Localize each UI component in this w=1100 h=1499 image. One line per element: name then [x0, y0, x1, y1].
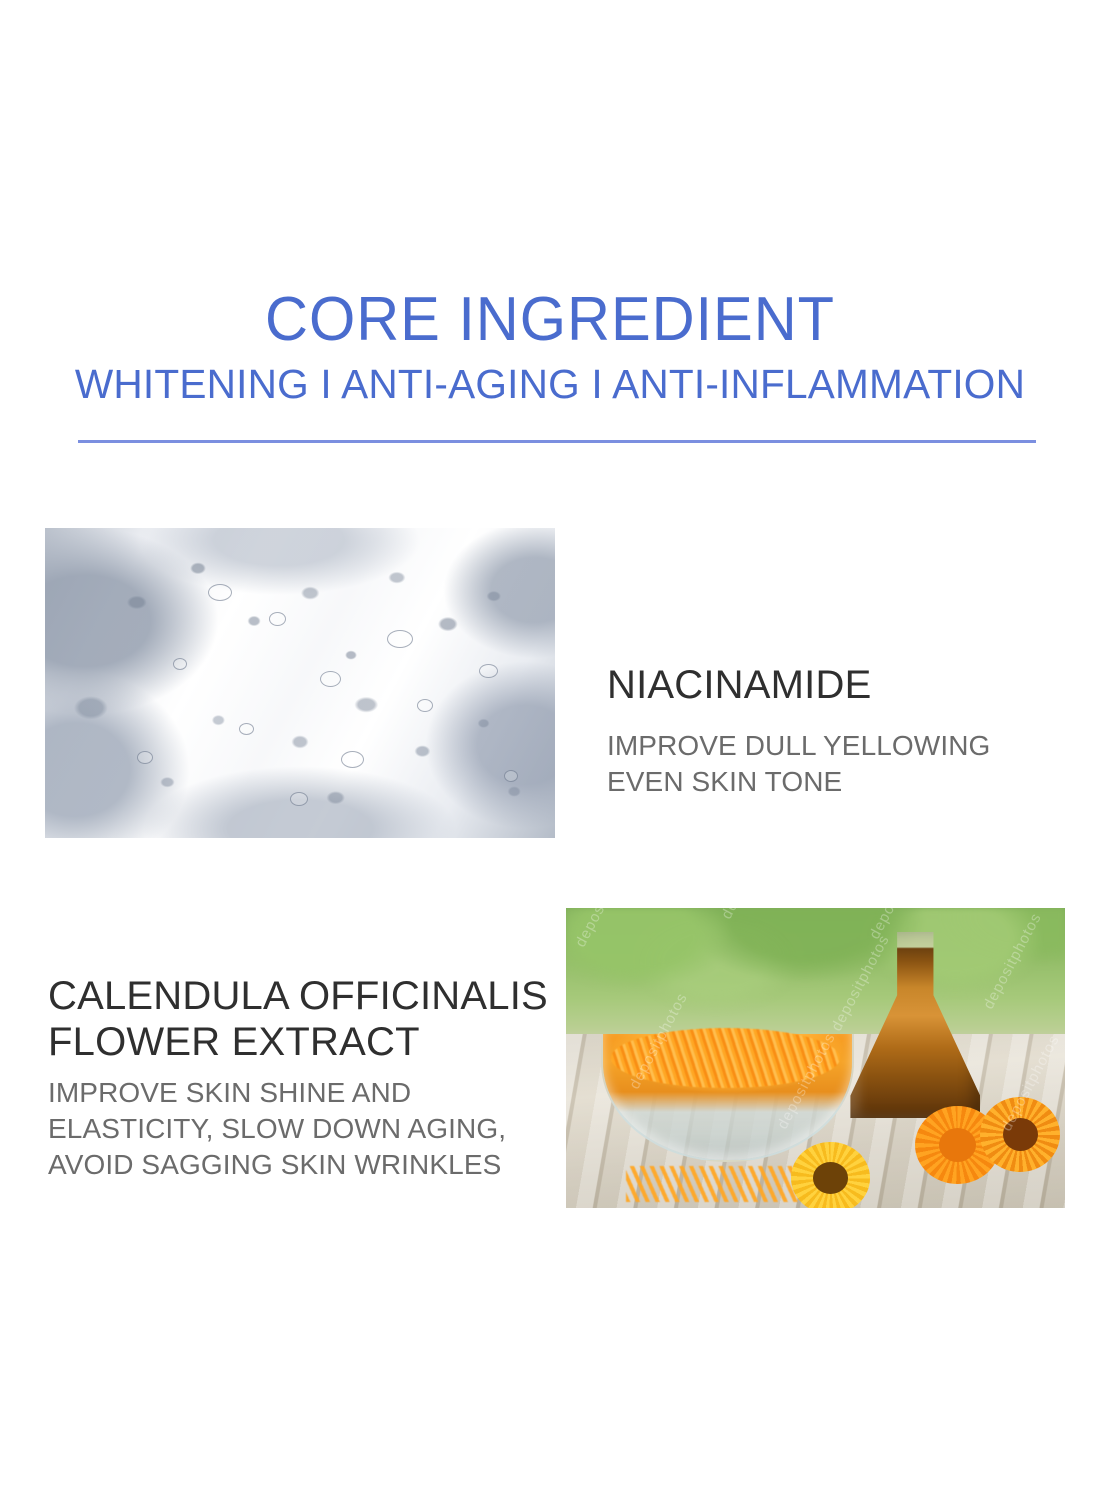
ingredient-title-line: NIACINAMIDE: [607, 662, 871, 708]
gel-bubble: [341, 751, 364, 768]
gel-bubble: [239, 723, 254, 735]
gel-bubble: [417, 699, 433, 712]
description-line: ELASTICITY, SLOW DOWN AGING,: [48, 1111, 506, 1147]
description-line: EVEN SKIN TONE: [607, 764, 990, 800]
header-divider: [78, 440, 1036, 443]
calendula-flower-oil-photo: depositphotos depositphotos depositphoto…: [566, 908, 1065, 1208]
page-subtitle: WHITENING I ANTI-AGING I ANTI-INFLAMMATI…: [6, 360, 1095, 408]
gel-bubble: [290, 792, 308, 806]
page-title: CORE INGREDIENT: [22, 286, 1078, 354]
calendula-flower: [980, 1097, 1060, 1172]
ingredient-title-line: CALENDULA OFFICINALIS: [48, 973, 548, 1019]
calendula-flower: [791, 1142, 871, 1208]
gel-bubble: [320, 671, 341, 687]
ingredient-title-calendula: CALENDULA OFFICINALIS FLOWER EXTRACT: [48, 973, 548, 1065]
gel-bubble: [208, 584, 232, 601]
description-line: AVOID SAGGING SKIN WRINKLES: [48, 1147, 506, 1183]
gel-bubble: [173, 658, 187, 670]
ingredient-title-line: FLOWER EXTRACT: [48, 1019, 548, 1065]
ingredient-infographic-page: CORE INGREDIENT WHITENING I ANTI-AGING I…: [0, 0, 1100, 1499]
gel-bubble: [387, 630, 413, 648]
ingredient-title-niacinamide: NIACINAMIDE: [607, 662, 871, 708]
gel-bubble: [479, 664, 498, 678]
gel-bubble: [269, 612, 286, 626]
grass-background: [566, 908, 1065, 1052]
ingredient-description-calendula: IMPROVE SKIN SHINE AND ELASTICITY, SLOW …: [48, 1075, 506, 1183]
gel-bubble: [504, 770, 518, 782]
description-line: IMPROVE SKIN SHINE AND: [48, 1075, 506, 1111]
header-block: CORE INGREDIENT WHITENING I ANTI-AGING I…: [0, 286, 1100, 408]
description-line: IMPROVE DULL YELLOWING: [607, 728, 990, 764]
gel-bubble: [137, 751, 153, 764]
clear-gel-serum-texture-photo: [45, 528, 555, 838]
ingredient-description-niacinamide: IMPROVE DULL YELLOWING EVEN SKIN TONE: [607, 728, 990, 800]
loose-petals: [626, 1166, 806, 1202]
calendula-petals-in-bowl: [611, 1028, 841, 1088]
